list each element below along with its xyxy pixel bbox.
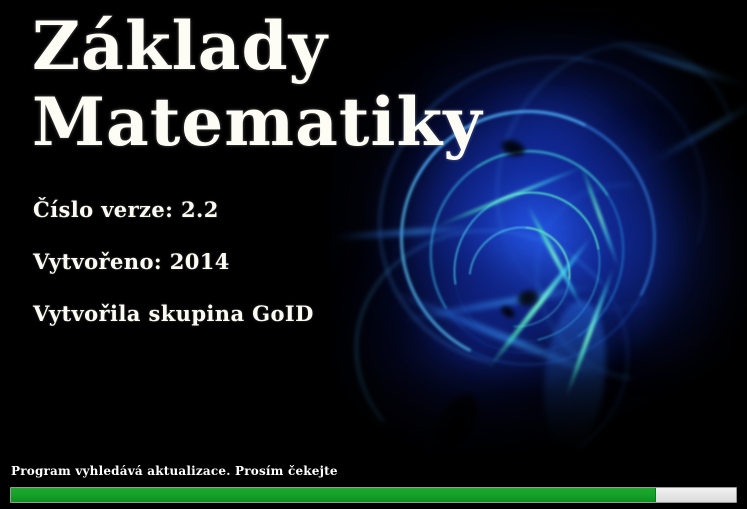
app-info-block: Číslo verze: 2.2 Vytvořeno: 2014 Vytvoři…: [33, 197, 314, 353]
author-label: Vytvořila skupina GoID: [33, 301, 314, 326]
app-title-line-2: Matematiky: [32, 84, 483, 160]
splash-content: Základy Matematiky Číslo verze: 2.2 Vytv…: [0, 0, 747, 509]
app-title: Základy Matematiky: [32, 8, 483, 160]
status-message: Program vyhledává aktualizace. Prosím če…: [11, 464, 338, 479]
update-progress-fill: [11, 488, 656, 502]
update-progress-bar: [10, 487, 737, 503]
splash-screen: Základy Matematiky Číslo verze: 2.2 Vytv…: [0, 0, 747, 509]
version-label: Číslo verze: 2.2: [33, 197, 314, 222]
created-label: Vytvořeno: 2014: [33, 249, 314, 274]
app-title-line-1: Základy: [32, 8, 483, 84]
